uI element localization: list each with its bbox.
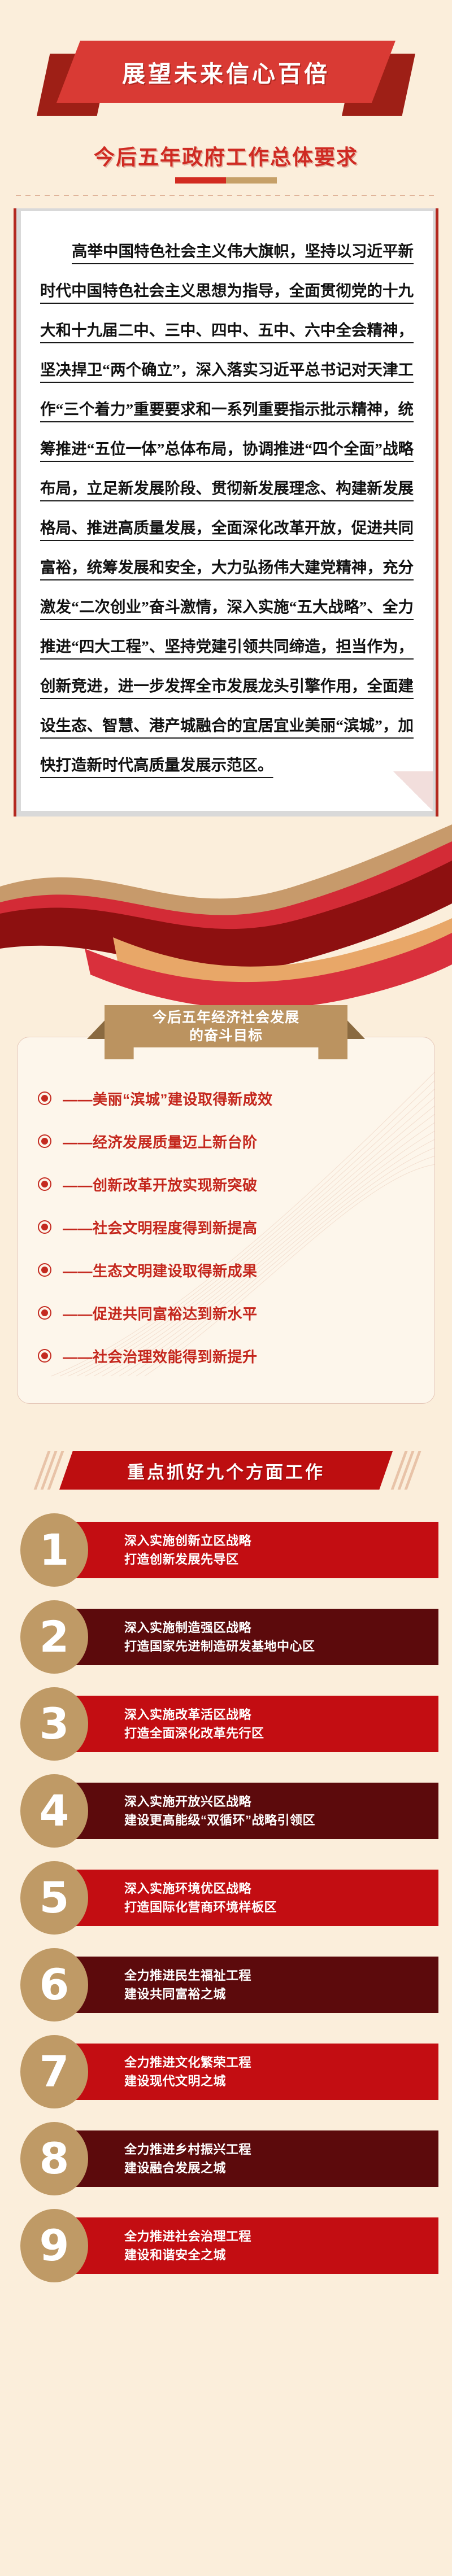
goal-label: ——创新改革开放实现新突破 [63, 1174, 258, 1195]
work-number-badge: 4 [20, 1774, 88, 1848]
list-item: ——创新改革开放实现新突破 [18, 1163, 434, 1206]
goal-card: ——美丽“滨城”建设取得新成效 ——经济发展质量迈上新台阶 ——创新改革开放实现… [17, 1037, 435, 1404]
nine-works-title: 重点抓好九个方面工作 [127, 1458, 325, 1483]
title-bar-red [175, 177, 226, 184]
title-underline [0, 177, 452, 184]
bullet-dot-icon [38, 1091, 51, 1105]
work-line1: 全力推进文化繁荣工程 [124, 2053, 438, 2072]
work-item-5[interactable]: 5 深入实施环境优区战略 打造国际化营商环境样板区 [14, 1861, 438, 1936]
nine-works-banner-wrap: 重点抓好九个方面工作 [0, 1429, 452, 1513]
work-line1: 深入实施开放兴区战略 [124, 1792, 438, 1811]
overall-body-text: 高举中国特色社会主义伟大旗帜，坚持以习近平新时代中国特色社会主义思想为指导，全面… [40, 232, 414, 785]
work-bar: 深入实施制造强区战略 打造国家先进制造研发基地中心区 [62, 1609, 438, 1665]
work-line2: 打造创新发展先导区 [124, 1550, 438, 1569]
work-line1: 深入实施环境优区战略 [124, 1879, 438, 1898]
work-line1: 深入实施改革活区战略 [124, 1705, 438, 1724]
work-number-badge: 2 [20, 1600, 88, 1674]
work-line2: 打造国际化营商环境样板区 [124, 1898, 438, 1916]
work-bar: 全力推进乡村振兴工程 建设融合发展之城 [62, 2130, 438, 2187]
work-line1: 深入实施制造强区战略 [124, 1618, 438, 1637]
work-number: 2 [40, 1616, 69, 1658]
work-line1: 全力推进民生福祉工程 [124, 1966, 438, 1985]
goal-label: ——社会治理效能得到新提升 [63, 1346, 258, 1366]
wave-graphic [0, 819, 452, 1005]
work-line1: 全力推进乡村振兴工程 [124, 2140, 438, 2159]
list-item: ——经济发展质量迈上新台阶 [18, 1120, 434, 1163]
work-number: 3 [40, 1702, 69, 1745]
list-item: ——美丽“滨城”建设取得新成效 [18, 1077, 434, 1120]
work-line2: 打造国家先进制造研发基地中心区 [124, 1637, 438, 1656]
bullet-dot-icon [38, 1306, 51, 1320]
goal-banner-line2: 的奋斗目标 [189, 1027, 263, 1045]
goal-label: ——促进共同富裕达到新水平 [63, 1303, 258, 1324]
work-number: 8 [40, 2137, 69, 2180]
work-line2: 建设现代文明之城 [124, 2072, 438, 2090]
work-item-9[interactable]: 9 全力推进社会治理工程 建设和谐安全之城 [14, 2209, 438, 2284]
goal-label: ——社会文明程度得到新提高 [63, 1217, 258, 1238]
work-number-badge: 5 [20, 1861, 88, 1935]
work-bar: 深入实施开放兴区战略 建设更高能级“双循环”战略引领区 [62, 1783, 438, 1839]
bullet-dot-icon [38, 1134, 51, 1148]
work-item-3[interactable]: 3 深入实施改革活区战略 打造全面深化改革先行区 [14, 1687, 438, 1762]
work-bar: 全力推进社会治理工程 建设和谐安全之城 [62, 2217, 438, 2274]
work-line2: 建设共同富裕之城 [124, 1985, 438, 2003]
work-number-badge: 8 [20, 2122, 88, 2195]
overall-section-title: 今后五年政府工作总体要求 [0, 140, 452, 184]
list-item: ——社会治理效能得到新提升 [18, 1334, 434, 1377]
title-bar-gold [226, 177, 277, 184]
work-line2: 打造全面深化改革先行区 [124, 1724, 438, 1743]
work-line1: 全力推进社会治理工程 [124, 2227, 438, 2246]
work-number: 9 [40, 2224, 69, 2267]
work-line1: 深入实施创新立区战略 [124, 1531, 438, 1550]
work-item-1[interactable]: 1 深入实施创新立区战略 打造创新发展先导区 [14, 1513, 438, 1588]
banner-title: 展望未来信心百倍 [122, 55, 330, 89]
work-number: 6 [40, 1963, 69, 2006]
work-number: 7 [40, 2050, 69, 2093]
nine-works-banner: 重点抓好九个方面工作 [59, 1451, 393, 1490]
overall-text-card: 高举中国特色社会主义伟大旗帜，坚持以习近平新时代中国特色社会主义思想为指导，全面… [14, 208, 438, 817]
work-item-8[interactable]: 8 全力推进乡村振兴工程 建设融合发展之城 [14, 2122, 438, 2197]
work-number: 5 [40, 1876, 69, 1919]
list-item: ——社会文明程度得到新提高 [18, 1206, 434, 1248]
works-list: 1 深入实施创新立区战略 打造创新发展先导区 2 深入实施制造强区战略 打造国家… [0, 1513, 452, 2284]
goal-list: ——美丽“滨城”建设取得新成效 ——经济发展质量迈上新台阶 ——创新改革开放实现… [18, 1077, 434, 1377]
goal-banner-line1: 今后五年经济社会发展 [153, 1008, 299, 1027]
overall-text-card-inner: 高举中国特色社会主义伟大旗帜，坚持以习近平新时代中国特色社会主义思想为指导，全面… [21, 211, 433, 811]
work-number-badge: 1 [20, 1513, 88, 1587]
work-bar: 深入实施改革活区战略 打造全面深化改革先行区 [62, 1696, 438, 1752]
card-folded-corner [393, 771, 433, 811]
goals-section: 今后五年经济社会发展 的奋斗目标 ——美丽“滨城”建设 [17, 1005, 435, 1404]
work-number-badge: 6 [20, 1948, 88, 2021]
top-banner: 展望未来信心百倍 [0, 0, 452, 130]
goal-label: ——经济发展质量迈上新台阶 [63, 1131, 258, 1152]
work-number: 1 [40, 1529, 69, 1571]
work-item-6[interactable]: 6 全力推进民生福祉工程 建设共同富裕之城 [14, 1948, 438, 2023]
work-item-2[interactable]: 2 深入实施制造强区战略 打造国家先进制造研发基地中心区 [14, 1600, 438, 1675]
work-bar: 深入实施环境优区战略 打造国际化营商环境样板区 [62, 1870, 438, 1926]
goal-label: ——美丽“滨城”建设取得新成效 [63, 1088, 273, 1109]
ribbon-wave-decoration [0, 819, 452, 1005]
banner-ribbon: 展望未来信心百倍 [56, 41, 395, 103]
bullet-dot-icon [38, 1220, 51, 1234]
work-number: 4 [40, 1789, 69, 1832]
work-bar: 深入实施创新立区战略 打造创新发展先导区 [62, 1522, 438, 1578]
work-line2: 建设融合发展之城 [124, 2159, 438, 2177]
work-item-7[interactable]: 7 全力推进文化繁荣工程 建设现代文明之城 [14, 2035, 438, 2110]
work-bar: 全力推进民生福祉工程 建设共同富裕之城 [62, 1957, 438, 2013]
list-item: ——生态文明建设取得新成果 [18, 1248, 434, 1291]
work-line2: 建设更高能级“双循环”战略引领区 [124, 1811, 438, 1830]
dashed-divider [16, 195, 436, 196]
page-title: 今后五年政府工作总体要求 [0, 140, 452, 171]
work-item-4[interactable]: 4 深入实施开放兴区战略 建设更高能级“双循环”战略引领区 [14, 1774, 438, 1849]
work-number-badge: 9 [20, 2209, 88, 2282]
work-line2: 建设和谐安全之城 [124, 2246, 438, 2264]
bullet-dot-icon [38, 1349, 51, 1363]
work-number-badge: 3 [20, 1687, 88, 1761]
goal-label: ——生态文明建设取得新成果 [63, 1260, 258, 1281]
bullet-dot-icon [38, 1263, 51, 1277]
work-bar: 全力推进文化繁荣工程 建设现代文明之城 [62, 2044, 438, 2100]
list-item: ——促进共同富裕达到新水平 [18, 1291, 434, 1334]
bullet-dot-icon [38, 1177, 51, 1191]
work-number-badge: 7 [20, 2035, 88, 2108]
